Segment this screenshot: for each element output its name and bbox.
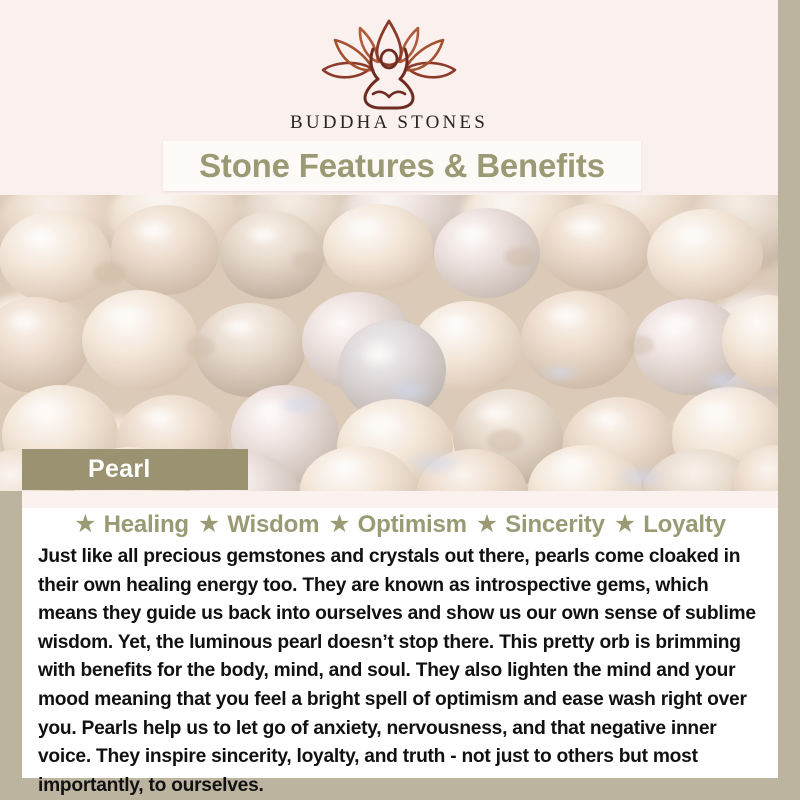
- benefit-label: Optimism: [358, 511, 467, 539]
- star-icon: ★: [198, 512, 220, 537]
- benefits-list: ★ Healing ★ Wisdom ★ Optimism ★ Sincerit…: [22, 511, 778, 539]
- benefit-item-loyalty: ★ Loyalty: [614, 511, 726, 539]
- stone-name: Pearl: [88, 455, 151, 484]
- panel-top-tint: [22, 491, 778, 508]
- benefit-label: Loyalty: [643, 511, 726, 539]
- content-panel: ★ Healing ★ Wisdom ★ Optimism ★ Sincerit…: [22, 491, 778, 778]
- benefit-label: Healing: [104, 511, 189, 539]
- benefit-label: Sincerity: [505, 511, 605, 539]
- benefit-label: Wisdom: [227, 511, 319, 539]
- pearls-photo: [0, 195, 778, 491]
- stone-info-card: BUDDHA STONES Stone Features & Benefits: [0, 0, 800, 800]
- star-icon: ★: [328, 512, 350, 537]
- description-text: Just like all precious gemstones and cry…: [38, 543, 762, 800]
- star-icon: ★: [614, 512, 636, 537]
- photo-caption-band: Pearl: [22, 449, 248, 490]
- benefit-item-sincerity: ★ Sincerity: [476, 511, 605, 539]
- page-title: Stone Features & Benefits: [199, 147, 605, 185]
- title-banner: Stone Features & Benefits: [163, 141, 641, 191]
- brand-logo: BUDDHA STONES: [0, 18, 778, 138]
- benefit-item-optimism: ★ Optimism: [328, 511, 467, 539]
- header-section: BUDDHA STONES Stone Features & Benefits: [0, 0, 778, 196]
- lotus-meditation-icon: [313, 18, 465, 110]
- star-icon: ★: [476, 512, 498, 537]
- brand-name: BUDDHA STONES: [290, 112, 488, 134]
- benefit-item-healing: ★ Healing: [74, 511, 189, 539]
- benefit-item-wisdom: ★ Wisdom: [198, 511, 319, 539]
- star-icon: ★: [74, 512, 96, 537]
